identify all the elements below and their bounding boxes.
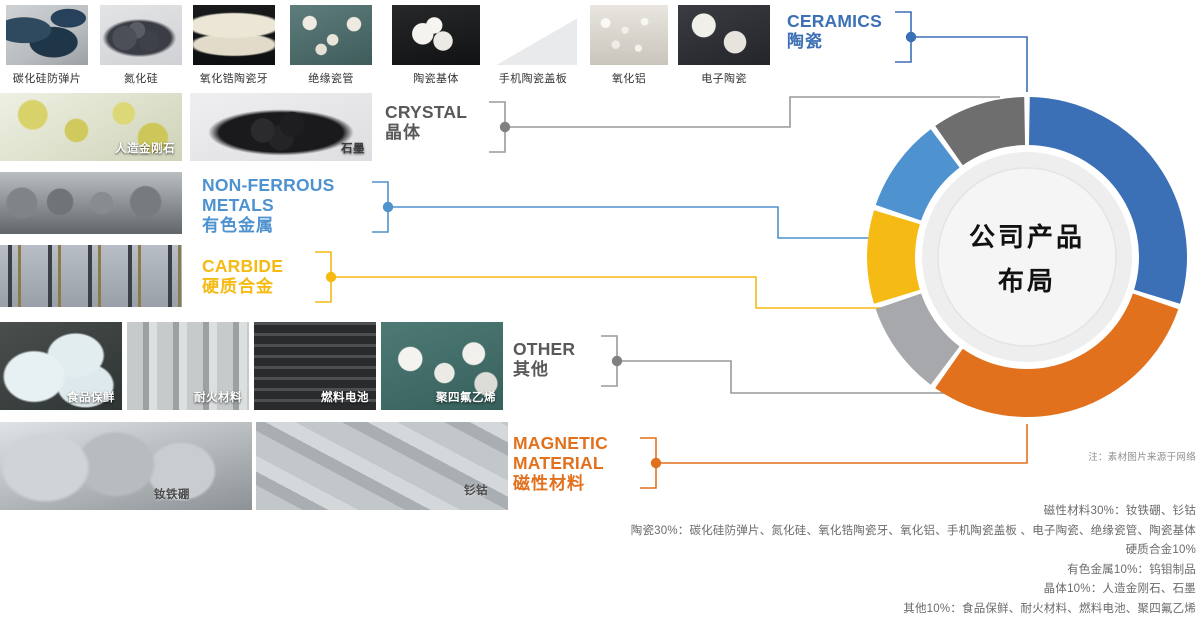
center-title-line1: 公司产品 xyxy=(969,217,1085,254)
photo-caption: 氧化铝 xyxy=(590,70,668,86)
legend-line: 硬质合金10% xyxy=(46,541,1196,561)
legend-block: 磁性材料30%：钕铁硼、钐钴 陶瓷30%：碳化硅防弹片、氮化硅、氧化锆陶瓷牙、氧… xyxy=(46,502,1196,619)
category-label-carbide[interactable]: CARBIDE 硬质合金 xyxy=(202,257,283,296)
category-en-label-line1: NON-FERROUS xyxy=(202,176,334,196)
photo-image xyxy=(0,172,182,234)
photo-caption: 绝缘瓷管 xyxy=(290,70,372,86)
legend-line: 有色金属10%：钨钼制品 xyxy=(46,561,1196,581)
photo-image xyxy=(290,5,372,65)
photo-alumina xyxy=(590,5,668,65)
photo-image xyxy=(392,5,480,65)
category-cn-label: 磁性材料 xyxy=(513,474,608,493)
center-title-line2: 布局 xyxy=(998,261,1056,298)
photo-silicon-nitride xyxy=(100,5,182,65)
category-cn-label: 晶体 xyxy=(385,123,467,142)
category-cn-label: 硬质合金 xyxy=(202,277,283,296)
photo-ptfe: 聚四氟乙烯 xyxy=(381,322,503,410)
source-note: 注：素材图片来源于网络 xyxy=(1088,449,1196,463)
photo-caption: 燃料电池 xyxy=(321,389,369,405)
category-label-magnetic-material[interactable]: MAGNETIC MATERIAL 磁性材料 xyxy=(513,434,608,493)
photo-refractory-material: 耐火材料 xyxy=(127,322,249,410)
photo-caption: 陶瓷基体 xyxy=(392,70,480,86)
photo-fuel-cell: 燃料电池 xyxy=(254,322,376,410)
category-cn-label: 有色金属 xyxy=(202,216,334,235)
legend-line: 磁性材料30%：钕铁硼、钐钴 xyxy=(46,502,1196,522)
category-label-non-ferrous-metals[interactable]: NON-FERROUS METALS 有色金属 xyxy=(202,176,334,235)
photo-image xyxy=(0,422,252,510)
photo-electronic-ceramics xyxy=(678,5,770,65)
product-distribution-donut-chart: 公司产品 布局 xyxy=(852,82,1202,432)
photo-graphite: 石墨 xyxy=(190,93,372,161)
photo-caption: 氧化锆陶瓷牙 xyxy=(186,70,282,86)
photo-insulating-tube xyxy=(290,5,372,65)
donut-center-label: 公司产品 布局 xyxy=(852,82,1202,432)
category-en-label: CRYSTAL xyxy=(385,103,467,123)
infographic-canvas: 碳化硅防弹片 氮化硅 氧化锆陶瓷牙 绝缘瓷管 陶瓷基体 手机陶瓷盖板 氧化铝 电… xyxy=(0,0,1204,632)
category-label-other[interactable]: OTHER 其他 xyxy=(513,340,575,379)
photo-zirconia-teeth xyxy=(193,5,275,65)
photo-ceramic-substrate xyxy=(392,5,480,65)
photo-image xyxy=(0,245,182,307)
photo-samarium-cobalt-magnet: 钐钴 xyxy=(256,422,508,510)
photo-synthetic-diamond: 人造金刚石 xyxy=(0,93,182,161)
photo-caption: 人造金刚石 xyxy=(115,140,175,156)
photo-ndfeb-magnet: 钕铁硼 xyxy=(0,422,252,510)
photo-non-ferrous-metals xyxy=(0,172,182,234)
photo-caption: 电子陶瓷 xyxy=(678,70,770,86)
photo-caption: 食品保鲜 xyxy=(67,389,115,405)
category-en-label: CARBIDE xyxy=(202,257,283,277)
photo-caption: 氮化硅 xyxy=(100,70,182,86)
photo-caption: 钐钴 xyxy=(464,482,488,498)
photo-caption: 耐火材料 xyxy=(194,389,242,405)
legend-line: 晶体10%：人造金刚石、石墨 xyxy=(46,580,1196,600)
category-en-label-line1: MAGNETIC xyxy=(513,434,608,454)
category-en-label: CERAMICS xyxy=(787,12,882,32)
photo-caption: 石墨 xyxy=(341,140,365,156)
legend-line: 其他10%：食品保鲜、耐火材料、燃料电池、聚四氟乙烯 xyxy=(46,600,1196,620)
photo-caption: 聚四氟乙烯 xyxy=(436,389,496,405)
photo-caption: 手机陶瓷盖板 xyxy=(483,70,583,86)
category-cn-label: 陶瓷 xyxy=(787,32,882,51)
photo-carbide-silicon-armor xyxy=(6,5,88,65)
photo-caption: 碳化硅防弹片 xyxy=(6,70,88,86)
photo-image xyxy=(678,5,770,65)
photo-phone-ceramic-cover xyxy=(489,5,577,65)
category-cn-label: 其他 xyxy=(513,360,575,379)
category-en-label: OTHER xyxy=(513,340,575,360)
legend-line: 陶瓷30%：碳化硅防弹片、氮化硅、氧化锆陶瓷牙、氧化铝、手机陶瓷盖板 、电子陶瓷… xyxy=(46,522,1196,542)
category-en-label-line2: METALS xyxy=(202,196,334,216)
photo-caption: 钕铁硼 xyxy=(154,486,190,502)
photo-image xyxy=(489,5,577,65)
photo-food-preservation: 食品保鲜 xyxy=(0,322,122,410)
photo-carbide-tools xyxy=(0,245,182,307)
photo-image xyxy=(100,5,182,65)
category-en-label-line2: MATERIAL xyxy=(513,454,608,474)
category-label-crystal[interactable]: CRYSTAL 晶体 xyxy=(385,103,467,142)
photo-image xyxy=(6,5,88,65)
photo-image xyxy=(590,5,668,65)
photo-image xyxy=(193,5,275,65)
category-label-ceramics[interactable]: CERAMICS 陶瓷 xyxy=(787,12,882,51)
